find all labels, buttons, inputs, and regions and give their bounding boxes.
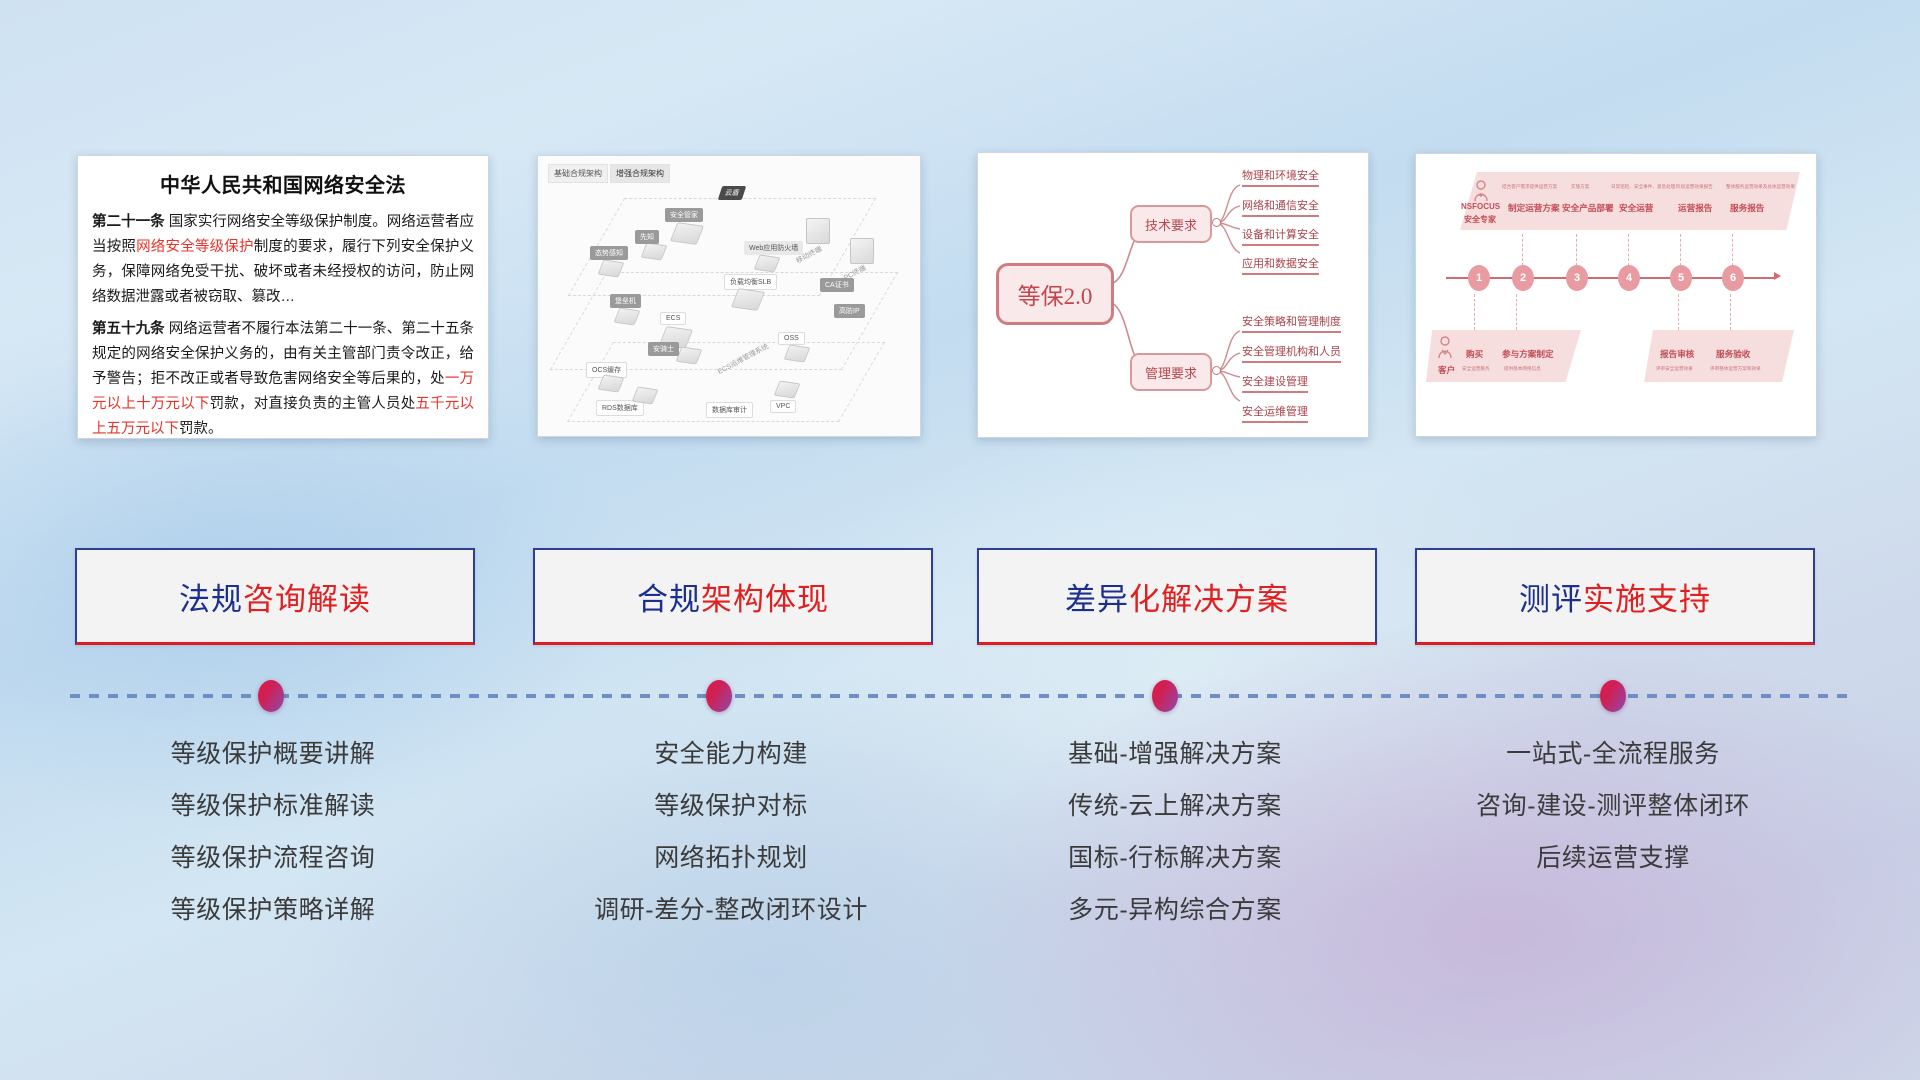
card-cloud-architecture[interactable]: 基础合规架构 增强合规架构 云盾 安全管家 先知 态势感知 堡垒机 ECS 安骑… — [537, 155, 921, 437]
node-waf: Web应用防火墙 — [744, 241, 803, 255]
list-item: 多元-异构综合方案 — [977, 898, 1373, 923]
list-item: 调研-差分-整改闭环设计 — [533, 898, 929, 923]
title-3-red: 化解决方案 — [1129, 574, 1289, 619]
connector-bottom-6 — [1730, 294, 1732, 330]
node-anqishi: 安骑士 — [648, 342, 679, 356]
monitor-mobile-terminal — [806, 218, 830, 244]
mindmap-root[interactable]: 等保2.0 — [996, 263, 1114, 325]
list-item: 一站式-全流程服务 — [1415, 742, 1811, 767]
list-item: 基础-增强解决方案 — [977, 742, 1373, 767]
node-anti-ddos-ip: 高防IP — [834, 304, 865, 318]
title-3-blue: 差异 — [1065, 574, 1129, 619]
timeline-node-4[interactable]: 4 — [1618, 265, 1640, 291]
customer-person-icon — [1436, 336, 1454, 360]
sub-step-3: 日常巡检、安全事件、紧急处理 — [1611, 184, 1675, 190]
bottom-step-review-sub: 评审安全运营效果 — [1656, 366, 1693, 372]
law-article-21: 第二十一条 国家实行网络安全等级保护制度。网络运营者应当按照网络安全等级保护制度… — [92, 210, 474, 310]
law-article-59: 第五十九条 网络运营者不履行本法第二十一条、第二十五条规定的网络安全保护义务的，… — [92, 317, 474, 439]
bottom-step-plan-sub: 提供基本网络信息 — [1504, 366, 1541, 372]
bottom-step-acceptance-label: 服务验收 — [1716, 348, 1750, 360]
timeline-knob-4[interactable] — [1600, 680, 1626, 712]
node-vpc: VPC — [770, 400, 796, 413]
mindmap-leaf-network-comm: 网络和通信安全 — [1242, 197, 1319, 217]
step-5-label: 服务报告 — [1730, 202, 1764, 214]
expert-person-icon — [1472, 180, 1490, 202]
step-4-label: 运营报告 — [1678, 202, 1712, 214]
architecture-diagram: 基础合规架构 增强合规架构 云盾 安全管家 先知 态势感知 堡垒机 ECS 安骑… — [538, 156, 920, 436]
step-2-label: 安全产品部署 — [1562, 202, 1614, 214]
connector-step-3 — [1576, 234, 1578, 266]
column-compliance-architecture: 安全能力构建 等级保护对标 网络拓扑规划 调研-差分-整改闭环设计 — [533, 742, 929, 950]
node-bastion-host: 堡垒机 — [610, 294, 641, 308]
bottom-step-purchase-sub: 安全运营服务 — [1462, 366, 1490, 372]
connector-step-5 — [1680, 234, 1682, 266]
mindmap-leaf-construction-mgmt: 安全建设管理 — [1242, 373, 1308, 393]
timeline-knob-2[interactable] — [706, 680, 732, 712]
timeline-node-1[interactable]: 1 — [1468, 265, 1490, 291]
title-1-blue: 法规 — [179, 574, 243, 619]
mindmap-leaf-physical-env: 物理和环境安全 — [1242, 167, 1319, 187]
card-cybersecurity-law[interactable]: 中华人民共和国网络安全法 第二十一条 国家实行网络安全等级保护制度。网络运营者应… — [77, 155, 489, 439]
list-item: 等级保护概要讲解 — [75, 742, 471, 767]
label-customer: 客户 — [1438, 364, 1455, 376]
column-differentiated-solution: 基础-增强解决方案 传统-云上解决方案 国标-行标解决方案 多元-异构综合方案 — [977, 742, 1373, 950]
list-item: 等级保护流程咨询 — [75, 846, 471, 871]
column-evaluation-support: 一站式-全流程服务 咨询-建设-测评整体闭环 后续运营支撑 — [1415, 742, 1811, 898]
nsfocus-process-diagram: NSFOCUS 安全专家 结合客户需求提供运营方案 制定运营方案 实施方案 安全… — [1416, 154, 1816, 436]
tab-basic-architecture[interactable]: 基础合规架构 — [548, 164, 608, 183]
law-body: 第二十一条 国家实行网络安全等级保护制度。网络运营者应当按照网络安全等级保护制度… — [78, 210, 488, 439]
timeline-node-5[interactable]: 5 — [1670, 265, 1692, 291]
connector-step-4 — [1628, 234, 1630, 266]
card-mindmap-dengbao[interactable]: 等保2.0 技术要求 物理和环境安全 网络和通信安全 设备和计算安全 应用和数据… — [977, 152, 1369, 438]
mindmap-leaf-policy-system: 安全策略和管理制度 — [1242, 313, 1341, 333]
screenshot-cards-row: 中华人民共和国网络安全法 第二十一条 国家实行网络安全等级保护制度。网络运营者应… — [0, 0, 1920, 460]
step-1-label: 制定运营方案 — [1508, 202, 1560, 214]
label-nsfocus-role: 安全专家 — [1464, 214, 1496, 225]
list-item: 安全能力构建 — [533, 742, 929, 767]
connector-step-2 — [1522, 234, 1524, 266]
article-59-label: 第五十九条 — [92, 321, 165, 337]
connector-bottom-5 — [1678, 294, 1680, 330]
bottom-step-plan-label: 参与方案制定 — [1502, 348, 1554, 360]
bottom-step-purchase-label: 购买 — [1466, 348, 1483, 360]
article-21-label: 第二十一条 — [92, 214, 165, 230]
list-item: 等级保护标准解读 — [75, 794, 471, 819]
tab-enhanced-architecture[interactable]: 增强合规架构 — [610, 164, 670, 183]
list-item: 网络拓扑规划 — [533, 846, 929, 871]
title-2-blue: 合规 — [637, 574, 701, 619]
mindmap-leaf-app-data: 应用和数据安全 — [1242, 255, 1319, 275]
node-slb: 负载均衡SLB — [724, 274, 777, 290]
bottom-step-review-label: 报告审核 — [1660, 348, 1694, 360]
title-1-red: 咨询解读 — [243, 574, 371, 619]
title-box-differentiated-solution[interactable]: 差异化解决方案 — [977, 548, 1377, 645]
timeline-node-6[interactable]: 6 — [1722, 265, 1744, 291]
sub-step-1: 结合客户需求提供运营方案 — [1502, 184, 1557, 190]
mindmap-branch-management[interactable]: 管理要求 — [1130, 353, 1212, 391]
connector-bottom-1 — [1474, 294, 1476, 330]
mindmap-collapse-dot-technical[interactable] — [1212, 218, 1221, 227]
list-item: 等级保护对标 — [533, 794, 929, 819]
service-detail-columns: 等级保护概要讲解 等级保护标准解读 等级保护流程咨询 等级保护策略详解 安全能力… — [0, 742, 1920, 992]
mindmap: 等保2.0 技术要求 物理和环境安全 网络和通信安全 设备和计算安全 应用和数据… — [978, 153, 1368, 437]
title-box-evaluation-support[interactable]: 测评实施支持 — [1415, 548, 1815, 645]
connector-step-6 — [1732, 234, 1734, 266]
banner-expert-lane — [1460, 172, 1800, 230]
title-2-red: 架构体现 — [701, 574, 829, 619]
title-4-blue: 测评 — [1519, 574, 1583, 619]
list-item: 后续运营支撑 — [1415, 846, 1811, 871]
article-59-text-b: 罚款，对直接负责的主管人员处 — [210, 396, 416, 412]
node-xianzhi: 先知 — [635, 230, 659, 244]
node-oss: OSS — [778, 332, 805, 345]
timeline-knob-1[interactable] — [258, 680, 284, 712]
column-regulation-consulting: 等级保护概要讲解 等级保护标准解读 等级保护流程咨询 等级保护策略详解 — [75, 742, 471, 950]
timeline-node-3[interactable]: 3 — [1566, 265, 1588, 291]
card-nsfocus-timeline[interactable]: NSFOCUS 安全专家 结合客户需求提供运营方案 制定运营方案 实施方案 安全… — [1415, 153, 1817, 437]
list-item: 国标-行标解决方案 — [977, 846, 1373, 871]
article-59-text-c: 罚款。 — [179, 421, 223, 437]
list-item: 传统-云上解决方案 — [977, 794, 1373, 819]
label-nsfocus-name: NSFOCUS — [1461, 202, 1500, 211]
list-item: 等级保护策略详解 — [75, 898, 471, 923]
bottom-step-acceptance-sub: 评审整体运营方案和效果 — [1710, 366, 1761, 372]
mindmap-branch-technical[interactable]: 技术要求 — [1130, 205, 1212, 243]
sub-step-5: 整体服务运营效果及总体运营效果 — [1726, 184, 1795, 190]
node-db-audit: 数据库审计 — [706, 402, 753, 418]
list-item: 咨询-建设-测评整体闭环 — [1415, 794, 1811, 819]
node-ecs: ECS — [660, 312, 686, 325]
architecture-tabs[interactable]: 基础合规架构 增强合规架构 — [548, 164, 670, 183]
timeline-knob-3[interactable] — [1152, 680, 1178, 712]
connector-bottom-2 — [1516, 294, 1518, 330]
law-title: 中华人民共和国网络安全法 — [78, 169, 488, 198]
section-title-row: 法规咨询解读 合规架构体现 差异化解决方案 测评实施支持 — [0, 548, 1920, 644]
step-3-label: 安全运营 — [1619, 202, 1653, 214]
timeline-arrow-icon — [1774, 272, 1781, 280]
mindmap-collapse-dot-management[interactable] — [1212, 366, 1221, 375]
title-4-red: 实施支持 — [1583, 574, 1711, 619]
mindmap-leaf-ops-mgmt: 安全运维管理 — [1242, 403, 1308, 423]
mindmap-leaf-device-compute: 设备和计算安全 — [1242, 226, 1319, 246]
sub-step-4: 阶段运营效果报告 — [1676, 184, 1713, 190]
article-21-highlight: 网络安全等级保护 — [136, 239, 254, 255]
mindmap-leaf-org-personnel: 安全管理机构和人员 — [1242, 343, 1341, 363]
sub-step-2: 实施方案 — [1571, 184, 1589, 190]
node-situation-awareness: 态势感知 — [590, 246, 628, 260]
title-box-regulation-consulting[interactable]: 法规咨询解读 — [75, 548, 475, 645]
title-box-compliance-architecture[interactable]: 合规架构体现 — [533, 548, 933, 645]
node-cloud-shield: 云盾 — [718, 186, 747, 200]
timeline-node-2[interactable]: 2 — [1512, 265, 1534, 291]
node-rds-database: RDS数据库 — [596, 400, 644, 416]
node-security-butler: 安全管家 — [665, 208, 703, 222]
timeline-dashed-line — [70, 694, 1850, 698]
